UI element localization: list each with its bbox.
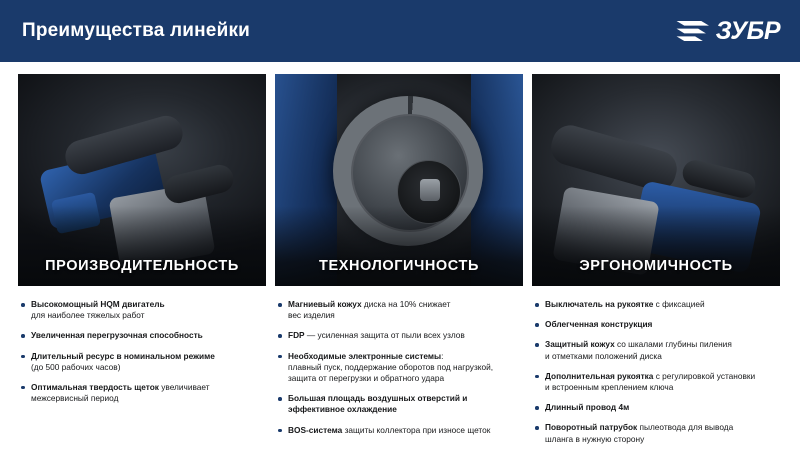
page-title: Преимущества линейки (0, 20, 250, 42)
bullet-rest: : (441, 351, 443, 361)
photo-performance: ПРОИЗВОДИТЕЛЬНОСТЬ (18, 74, 266, 286)
bullet-lead: Защитный кожух (545, 339, 615, 349)
bullet-item: Магниевый кожух диска на 10% снижает вес… (277, 299, 523, 321)
bullet-lead: Дополнительная рукоятка (545, 371, 653, 381)
bullet-item: Увеличенная перегрузочная способность (20, 330, 266, 341)
column-performance: ПРОИЗВОДИТЕЛЬНОСТЬ Высокомощный HQM двиг… (18, 74, 266, 454)
bullet-sub: межсервисный период (31, 393, 266, 404)
bullet-item: Оптимальная твердость щеток увеличивает … (20, 382, 266, 404)
bullet-lead: FDP (288, 330, 305, 340)
bullet-sub: и отметками положений диска (545, 351, 780, 362)
bullet-rest: защиты коллектора при износе щеток (342, 425, 490, 435)
bullet-sub: вес изделия (288, 310, 523, 321)
photo-gradient (18, 206, 266, 286)
bullet-lead: Длинный провод 4м (545, 402, 629, 412)
bullet-rest: с регулировкой установки (653, 371, 755, 381)
disc-bolt (420, 179, 440, 201)
bullet-item: Поворотный патрубок пылеотвода для вывод… (534, 422, 780, 444)
bullet-rest: со шкалами глубины пиления (615, 339, 732, 349)
bullet-item: Дополнительная рукоятка с регулировкой у… (534, 371, 780, 393)
bullet-lead: Поворотный патрубок (545, 422, 637, 432)
bullet-lead: Увеличенная перегрузочная способность (31, 330, 203, 340)
bullet-lead: Выключатель на рукоятке (545, 299, 653, 309)
bullet-item: Высокомощный HQM двигатель для наиболее … (20, 299, 266, 321)
brand-logo: ЗУБР (675, 17, 800, 46)
photo-caption-ergonomics: ЭРГОНОМИЧНОСТЬ (532, 258, 780, 274)
bullet-rest: с фиксацией (653, 299, 704, 309)
bullet-item: BOS-система защиты коллектора при износе… (277, 425, 523, 436)
zubr-arrow-logo-icon (675, 18, 709, 44)
bullet-sub: плавный пуск, поддержание оборотов под н… (288, 362, 523, 384)
slide-header: Преимущества линейки ЗУБР (0, 0, 800, 62)
bullet-lead: Высокомощный HQM двигатель (31, 299, 165, 309)
bullet-lead: Оптимальная твердость щеток (31, 382, 159, 392)
photo-caption-performance: ПРОИЗВОДИТЕЛЬНОСТЬ (18, 258, 266, 274)
bullet-list-technology: Магниевый кожух диска на 10% снижает вес… (275, 286, 523, 445)
bullet-item: Защитный кожух со шкалами глубины пилени… (534, 339, 780, 361)
bullet-item: Необходимые электронные системы: плавный… (277, 351, 523, 385)
bullet-lead: Длительный ресурс в номинальном режиме (31, 351, 215, 361)
bullet-rest: увеличивает (159, 382, 210, 392)
bullet-item: Большая площадь воздушных отверстий и эф… (277, 393, 523, 415)
bullet-sub: для наиболее тяжелых работ (31, 310, 266, 321)
slide: Преимущества линейки ЗУБР ПРОИЗВОДИ (0, 0, 800, 450)
bullet-lead: Облегченная конструкция (545, 319, 652, 329)
bullet-list-performance: Высокомощный HQM двигатель для наиболее … (18, 286, 266, 413)
photo-caption-technology: ТЕХНОЛОГИЧНОСТЬ (275, 258, 523, 274)
bullet-list-ergonomics: Выключатель на рукоятке с фиксацией Обле… (532, 286, 780, 454)
bullet-item: Выключатель на рукоятке с фиксацией (534, 299, 780, 310)
bullet-rest: — усиленная защита от пыли всех узлов (305, 330, 465, 340)
bullet-lead: Магниевый кожух (288, 299, 362, 309)
column-ergonomics: ЭРГОНОМИЧНОСТЬ Выключатель на рукоятке с… (532, 74, 780, 454)
bullet-rest: пылеотвода для вывода (637, 422, 733, 432)
bullet-item: Длинный провод 4м (534, 402, 780, 413)
column-technology: ТЕХНОЛОГИЧНОСТЬ Магниевый кожух диска на… (275, 74, 523, 454)
bullet-item: FDP — усиленная защита от пыли всех узло… (277, 330, 523, 341)
photo-gradient (532, 206, 780, 286)
bullet-sub: (до 500 рабочих часов) (31, 362, 266, 373)
bullet-sub: и встроенным креплением ключа (545, 382, 780, 393)
bullet-lead: Необходимые электронные системы (288, 351, 441, 361)
bullet-rest: диска на 10% снижает (362, 299, 451, 309)
bullet-lead: Большая площадь воздушных отверстий и эф… (288, 393, 467, 414)
bullet-sub: шланга в нужную сторону (545, 434, 780, 445)
bullet-item: Длительный ресурс в номинальном режиме (… (20, 351, 266, 373)
photo-technology: ТЕХНОЛОГИЧНОСТЬ (275, 74, 523, 286)
brand-name: ЗУБР (716, 17, 780, 46)
bullet-lead: BOS-система (288, 425, 342, 435)
photo-ergonomics: ЭРГОНОМИЧНОСТЬ (532, 74, 780, 286)
photo-gradient (275, 206, 523, 286)
bullet-item: Облегченная конструкция (534, 319, 780, 330)
columns-container: ПРОИЗВОДИТЕЛЬНОСТЬ Высокомощный HQM двиг… (0, 62, 800, 454)
